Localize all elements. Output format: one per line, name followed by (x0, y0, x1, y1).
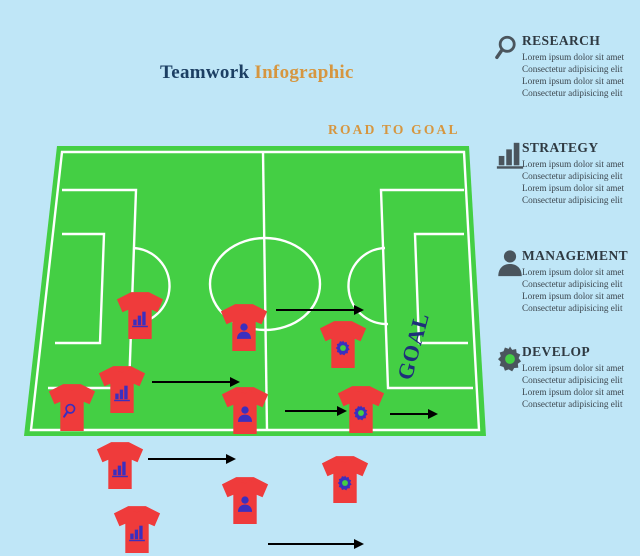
jersey-person-icon-badge (236, 405, 254, 423)
sidebar-body-line: Consectetur adipisicing elit (522, 278, 640, 290)
page-title: Teamwork Infographic (160, 62, 354, 84)
person-icon (236, 495, 254, 513)
jersey-bar-chart-icon-badge (128, 524, 146, 542)
sidebar-heading-develop: DEVELOP (522, 344, 640, 360)
magnifier-icon (63, 402, 81, 420)
sidebar-icon-management (495, 248, 529, 282)
bar-chart-icon (128, 524, 146, 542)
jersey-gear-icon-badge (334, 339, 352, 357)
sidebar-body-line: Lorem ipsum dolor sit amet (522, 290, 640, 302)
person-icon (236, 405, 254, 423)
sidebar-icon-strategy (495, 140, 529, 174)
arrow-shaft (268, 543, 355, 545)
sidebar-body-line: Lorem ipsum dolor sit amet (522, 182, 640, 194)
gear-icon (336, 474, 354, 492)
arrow-shaft (285, 410, 338, 412)
jersey-bar-chart-icon-badge (113, 384, 131, 402)
infographic-canvas: Teamwork Infographic ROAD TO GOAL (0, 0, 640, 453)
sidebar-body-line: Consectetur adipisicing elit (522, 194, 640, 206)
sidebar-body-line: Consectetur adipisicing elit (522, 170, 640, 182)
sidebar-body-line: Lorem ipsum dolor sit amet (522, 386, 640, 398)
sidebar-heading-management: MANAGEMENT (522, 248, 640, 264)
sidebar-text-management: MANAGEMENTLorem ipsum dolor sit ametCons… (522, 248, 640, 315)
jersey-bar-chart-icon-badge (111, 460, 129, 478)
sidebar-body-develop: Lorem ipsum dolor sit ametConsectetur ad… (522, 362, 640, 411)
jersey-person-icon-badge (236, 495, 254, 513)
jersey-person-icon-badge (235, 322, 253, 340)
sidebar-text-strategy: STRATEGYLorem ipsum dolor sit ametConsec… (522, 140, 640, 207)
sidebar-heading-research: RESEARCH (522, 33, 640, 49)
title-primary: Teamwork (160, 62, 249, 83)
jersey-magnifier-icon-badge (63, 402, 81, 420)
jersey-bar-chart-icon-badge (131, 310, 149, 328)
sidebar-body-line: Lorem ipsum dolor sit amet (522, 75, 640, 87)
bar-chart-icon (131, 310, 149, 328)
sidebar-body-line: Lorem ipsum dolor sit amet (522, 266, 640, 278)
sidebar-icon-develop (495, 344, 529, 378)
sidebar-section-research[interactable]: RESEARCHLorem ipsum dolor sit ametConsec… (496, 33, 640, 100)
sidebar-body-line: Consectetur adipisicing elit (522, 63, 640, 75)
sidebar-heading-strategy: STRATEGY (522, 140, 640, 156)
magnifier-icon (495, 33, 525, 63)
arrow-head (354, 305, 364, 315)
sidebar-body-management: Lorem ipsum dolor sit ametConsectetur ad… (522, 266, 640, 315)
arrow-head (354, 539, 364, 549)
sidebar-body-strategy: Lorem ipsum dolor sit ametConsectetur ad… (522, 158, 640, 207)
sidebar-body-line: Lorem ipsum dolor sit amet (522, 51, 640, 63)
sidebar-icon-research (495, 33, 529, 67)
bar-chart-icon (113, 384, 131, 402)
sidebar-section-develop[interactable]: DEVELOPLorem ipsum dolor sit ametConsect… (496, 344, 640, 411)
road-to-goal-label: ROAD TO GOAL (328, 122, 460, 138)
arrow-shaft (390, 413, 429, 415)
sidebar-body-research: Lorem ipsum dolor sit ametConsectetur ad… (522, 51, 640, 100)
sidebar-text-develop: DEVELOPLorem ipsum dolor sit ametConsect… (522, 344, 640, 411)
arrow-head (428, 409, 438, 419)
sidebar-body-line: Consectetur adipisicing elit (522, 374, 640, 386)
sidebar-body-line: Consectetur adipisicing elit (522, 398, 640, 410)
gear-icon (334, 339, 352, 357)
sidebar-body-line: Consectetur adipisicing elit (522, 302, 640, 314)
title-secondary: Infographic (254, 62, 353, 83)
arrow-shaft (148, 458, 227, 460)
sidebar-section-strategy[interactable]: STRATEGYLorem ipsum dolor sit ametConsec… (496, 140, 640, 207)
sidebar-section-management[interactable]: MANAGEMENTLorem ipsum dolor sit ametCons… (496, 248, 640, 315)
person-icon (495, 248, 525, 278)
gear-icon (352, 404, 370, 422)
bar-chart-icon (111, 460, 129, 478)
arrow-head (226, 454, 236, 464)
sidebar-body-line: Consectetur adipisicing elit (522, 87, 640, 99)
bar-chart-icon (495, 140, 525, 170)
jersey-gear-icon-badge (336, 474, 354, 492)
jersey-gear-icon-badge (352, 404, 370, 422)
sidebar-body-line: Lorem ipsum dolor sit amet (522, 158, 640, 170)
person-icon (235, 322, 253, 340)
sidebar-body-line: Lorem ipsum dolor sit amet (522, 362, 640, 374)
soccer-field: GOAL (0, 138, 500, 443)
sidebar-text-research: RESEARCHLorem ipsum dolor sit ametConsec… (522, 33, 640, 100)
arrow-shaft (276, 309, 355, 311)
arrow-shaft (152, 381, 231, 383)
gear-icon (495, 344, 525, 374)
